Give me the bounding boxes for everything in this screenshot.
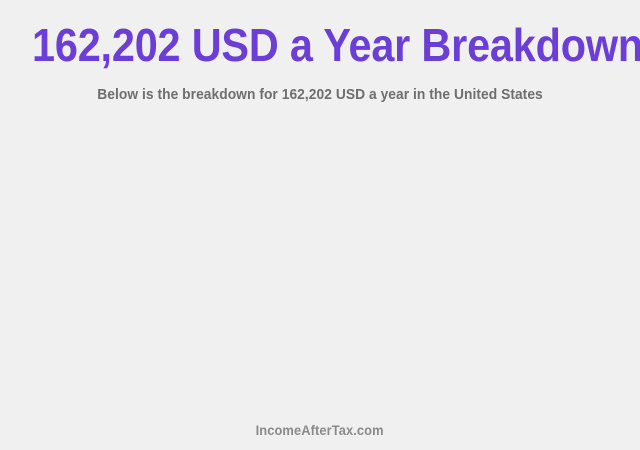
breakdown-page: 162,202 USD a Year Breakdown Below is th… [0,0,640,450]
page-subtitle: Below is the breakdown for 162,202 USD a… [26,85,615,104]
chart-plot-region [0,118,640,410]
site-watermark: IncomeAfterTax.com [256,421,384,439]
page-footer: IncomeAfterTax.com [0,421,640,440]
chart-area: Plot region is blank in this screenshot;… [0,118,640,410]
page-title: 162,202 USD a Year Breakdown [32,19,608,71]
